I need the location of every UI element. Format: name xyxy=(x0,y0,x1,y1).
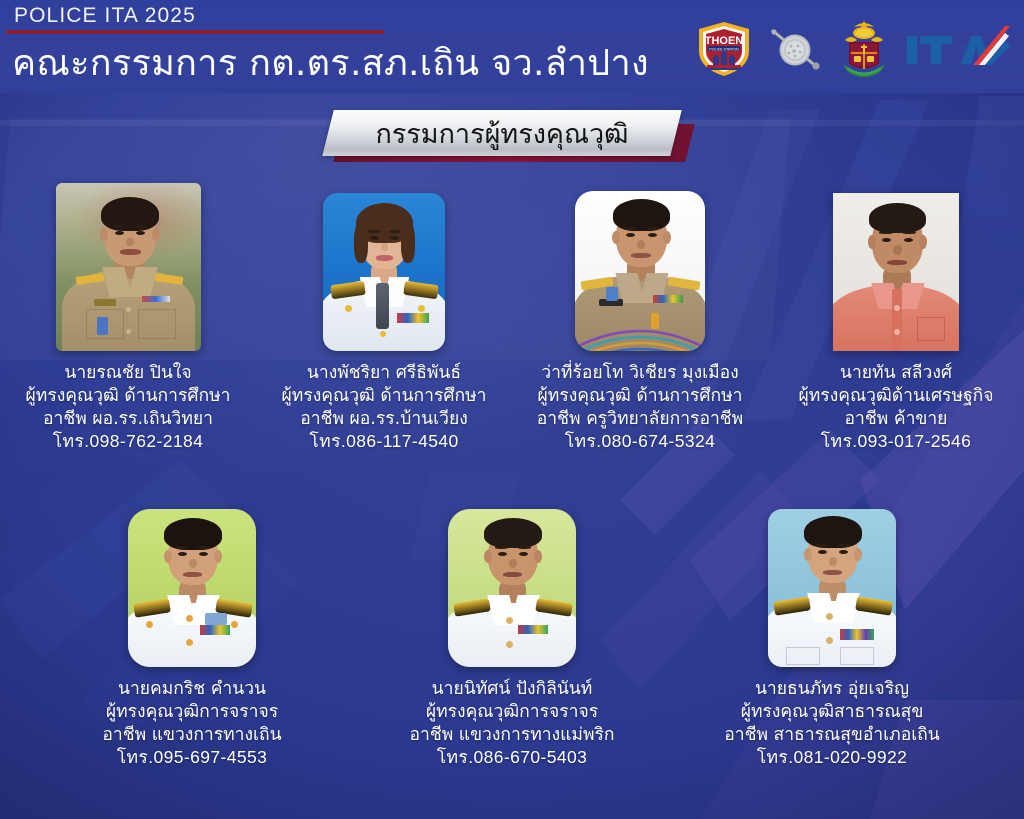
member-phone[interactable]: โทร.095-697-4553 xyxy=(102,746,281,769)
member-text-block: นายรณชัย ปินใจ ผู้ทรงคุณวุฒิ ด้านการศึกษ… xyxy=(26,362,231,453)
member-photo xyxy=(768,509,896,667)
member-occupation: อาชีพ แขวงการทางแม่พริก xyxy=(409,724,614,747)
member-photo-wrap xyxy=(768,497,896,667)
member-text-block: นายทัน สลีวงศ์ ผู้ทรงคุณวุฒิด้านเศรษฐกิจ… xyxy=(799,362,994,453)
member-card[interactable]: นายทัน สลีวงศ์ ผู้ทรงคุณวุฒิด้านเศรษฐกิจ… xyxy=(768,176,1024,453)
member-photo xyxy=(323,193,445,351)
member-name: นางพัชริยา ศรีธิพันธ์ xyxy=(282,362,487,385)
member-photo xyxy=(56,183,201,351)
member-role: ผู้ทรงคุณวุฒิสาธารณสุข xyxy=(724,701,940,724)
member-card[interactable]: นายคมกริช คำนวน ผู้ทรงคุณวุฒิการจราจร อา… xyxy=(32,497,352,769)
member-phone[interactable]: โทร.093-017-2546 xyxy=(799,430,994,453)
member-text-block: ว่าที่ร้อยโท วิเชียร มุงเมือง ผู้ทรงคุณว… xyxy=(537,362,743,453)
member-photo-wrap xyxy=(128,497,256,667)
royal-thai-police-emblem-logo xyxy=(837,20,891,78)
member-photo-wrap xyxy=(448,497,576,667)
page-kicker: POLICE ITA 2025 xyxy=(14,4,196,28)
member-name: นายทัน สลีวงศ์ xyxy=(799,362,994,385)
member-role: ผู้ทรงคุณวุฒิ ด้านการศึกษา xyxy=(537,385,743,408)
member-text-block: นางพัชริยา ศรีธิพันธ์ ผู้ทรงคุณวุฒิ ด้าน… xyxy=(282,362,487,453)
page-title: คณะกรรมการ กต.ตร.สภ.เถิน จว.ลำปาง xyxy=(12,34,649,91)
member-occupation: อาชีพ ค้าขาย xyxy=(799,408,994,431)
member-role: ผู้ทรงคุณวุฒิด้านเศรษฐกิจ xyxy=(799,385,994,408)
logo-row: THOEN POLICE STATION xyxy=(695,20,1010,78)
silver-seal-medallion-logo xyxy=(767,20,823,78)
committee-members-grid: นายรณชัย ปินใจ ผู้ทรงคุณวุฒิ ด้านการศึกษ… xyxy=(0,176,1024,769)
member-text-block: นายนิทัศน์ ปังกิลินันท์ ผู้ทรงคุณวุฒิการ… xyxy=(409,678,614,769)
member-occupation: อาชีพ ผอ.รร.บ้านเวียง xyxy=(282,408,487,431)
member-role: ผู้ทรงคุณวุฒิ ด้านการศึกษา xyxy=(26,385,231,408)
member-phone[interactable]: โทร.081-020-9922 xyxy=(724,746,940,769)
member-photo xyxy=(833,193,959,351)
member-occupation: อาชีพ ผอ.รร.เถินวิทยา xyxy=(26,408,231,431)
member-phone[interactable]: โทร.086-670-5403 xyxy=(409,746,614,769)
member-text-block: นายธนภัทร อุ่ยเจริญ ผู้ทรงคุณวุฒิสาธารณส… xyxy=(724,678,940,769)
member-occupation: อาชีพ ครูวิทยาลัยการอาชีพ xyxy=(537,408,743,431)
members-row-1: นายรณชัย ปินใจ ผู้ทรงคุณวุฒิ ด้านการศึกษ… xyxy=(0,176,1024,453)
member-photo-wrap xyxy=(56,176,201,351)
member-photo xyxy=(575,191,705,351)
member-photo-wrap xyxy=(575,176,705,351)
banner-label: กรรมการผู้ทรงคุณวุฒิ xyxy=(328,110,676,156)
member-role: ผู้ทรงคุณวุฒิการจราจร xyxy=(409,701,614,724)
ita-logo xyxy=(905,20,1010,78)
member-photo-wrap xyxy=(323,176,445,351)
member-photo-wrap xyxy=(833,176,959,351)
member-role: ผู้ทรงคุณวุฒิการจราจร xyxy=(102,701,281,724)
member-role: ผู้ทรงคุณวุฒิ ด้านการศึกษา xyxy=(282,385,487,408)
member-card[interactable]: นายธนภัทร อุ่ยเจริญ ผู้ทรงคุณวุฒิสาธารณส… xyxy=(672,497,992,769)
member-card[interactable]: นายนิทัศน์ ปังกิลินันท์ ผู้ทรงคุณวุฒิการ… xyxy=(352,497,672,769)
member-occupation: อาชีพ สาธารณสุขอำเภอเถิน xyxy=(724,724,940,747)
member-name: นายคมกริช คำนวน xyxy=(102,678,281,701)
member-phone[interactable]: โทร.086-117-4540 xyxy=(282,430,487,453)
section-banner: กรรมการผู้ทรงคุณวุฒิ xyxy=(0,108,1024,168)
member-phone[interactable]: โทร.080-674-5324 xyxy=(537,430,743,453)
member-card[interactable]: นายรณชัย ปินใจ ผู้ทรงคุณวุฒิ ด้านการศึกษ… xyxy=(0,176,256,453)
member-card[interactable]: ว่าที่ร้อยโท วิเชียร มุงเมือง ผู้ทรงคุณว… xyxy=(512,176,768,453)
svg-text:THOEN: THOEN xyxy=(705,35,744,47)
thoen-police-station-shield-logo: THOEN POLICE STATION xyxy=(695,20,753,78)
member-text-block: นายคมกริช คำนวน ผู้ทรงคุณวุฒิการจราจร อา… xyxy=(102,678,281,769)
member-phone[interactable]: โทร.098-762-2184 xyxy=(26,430,231,453)
members-row-2: นายคมกริช คำนวน ผู้ทรงคุณวุฒิการจราจร อา… xyxy=(0,497,1024,769)
member-photo xyxy=(128,509,256,667)
member-occupation: อาชีพ แขวงการทางเถิน xyxy=(102,724,281,747)
member-name: ว่าที่ร้อยโท วิเชียร มุงเมือง xyxy=(537,362,743,385)
member-name: นายรณชัย ปินใจ xyxy=(26,362,231,385)
member-photo xyxy=(448,509,576,667)
member-card[interactable]: นางพัชริยา ศรีธิพันธ์ ผู้ทรงคุณวุฒิ ด้าน… xyxy=(256,176,512,453)
member-name: นายธนภัทร อุ่ยเจริญ xyxy=(724,678,940,701)
member-name: นายนิทัศน์ ปังกิลินันท์ xyxy=(409,678,614,701)
